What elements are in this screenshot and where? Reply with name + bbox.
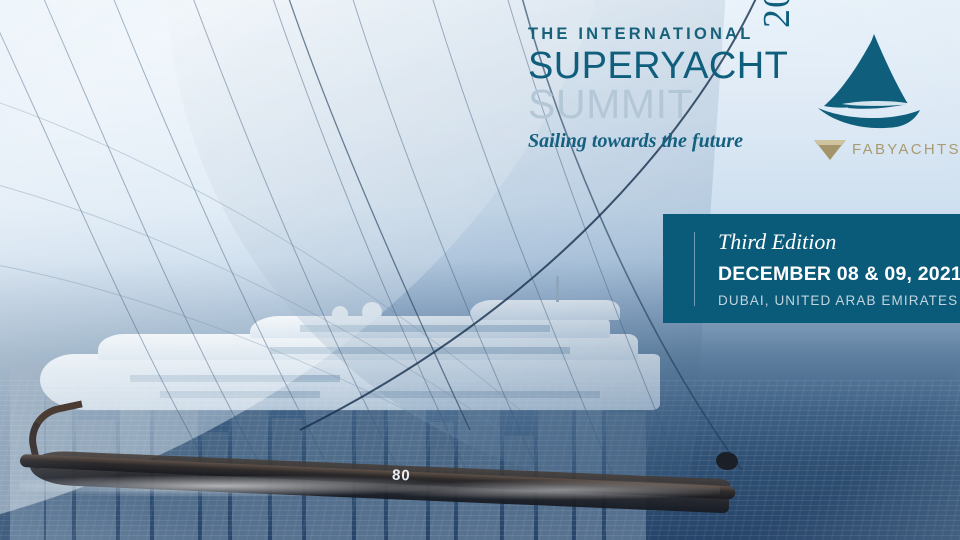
logo-line-summit: SUMMIT [528,84,812,124]
fabyachts-logo[interactable]: FABYACHTS [812,32,944,141]
logo-tagline: Sailing towards the future [528,131,812,151]
event-poster: 80 THE INTERNATIONAL SUPERYACHT SUMMIT S… [0,0,960,540]
event-details-panel: Third Edition DECEMBER 08 & 09, 2021 DUB… [663,214,960,323]
edition-label: Third Edition [718,231,950,253]
summit-logo-lockup: THE INTERNATIONAL SUPERYACHT SUMMIT Sail… [528,26,812,151]
fabyachts-wordmark: FABYACHTS [852,142,960,157]
event-dates: DECEMBER 08 & 09, 2021 [718,265,950,285]
panel-divider [694,232,695,306]
logo-line-superyacht: SUPERYACHT [528,48,812,85]
logo-year: 2021 [758,0,796,28]
sailboat-icon [812,32,944,136]
diamond-gem-icon [812,136,848,162]
logo-line-the-international: THE INTERNATIONAL [528,26,812,43]
event-location: DUBAI, UNITED ARAB EMIRATES [718,294,950,308]
